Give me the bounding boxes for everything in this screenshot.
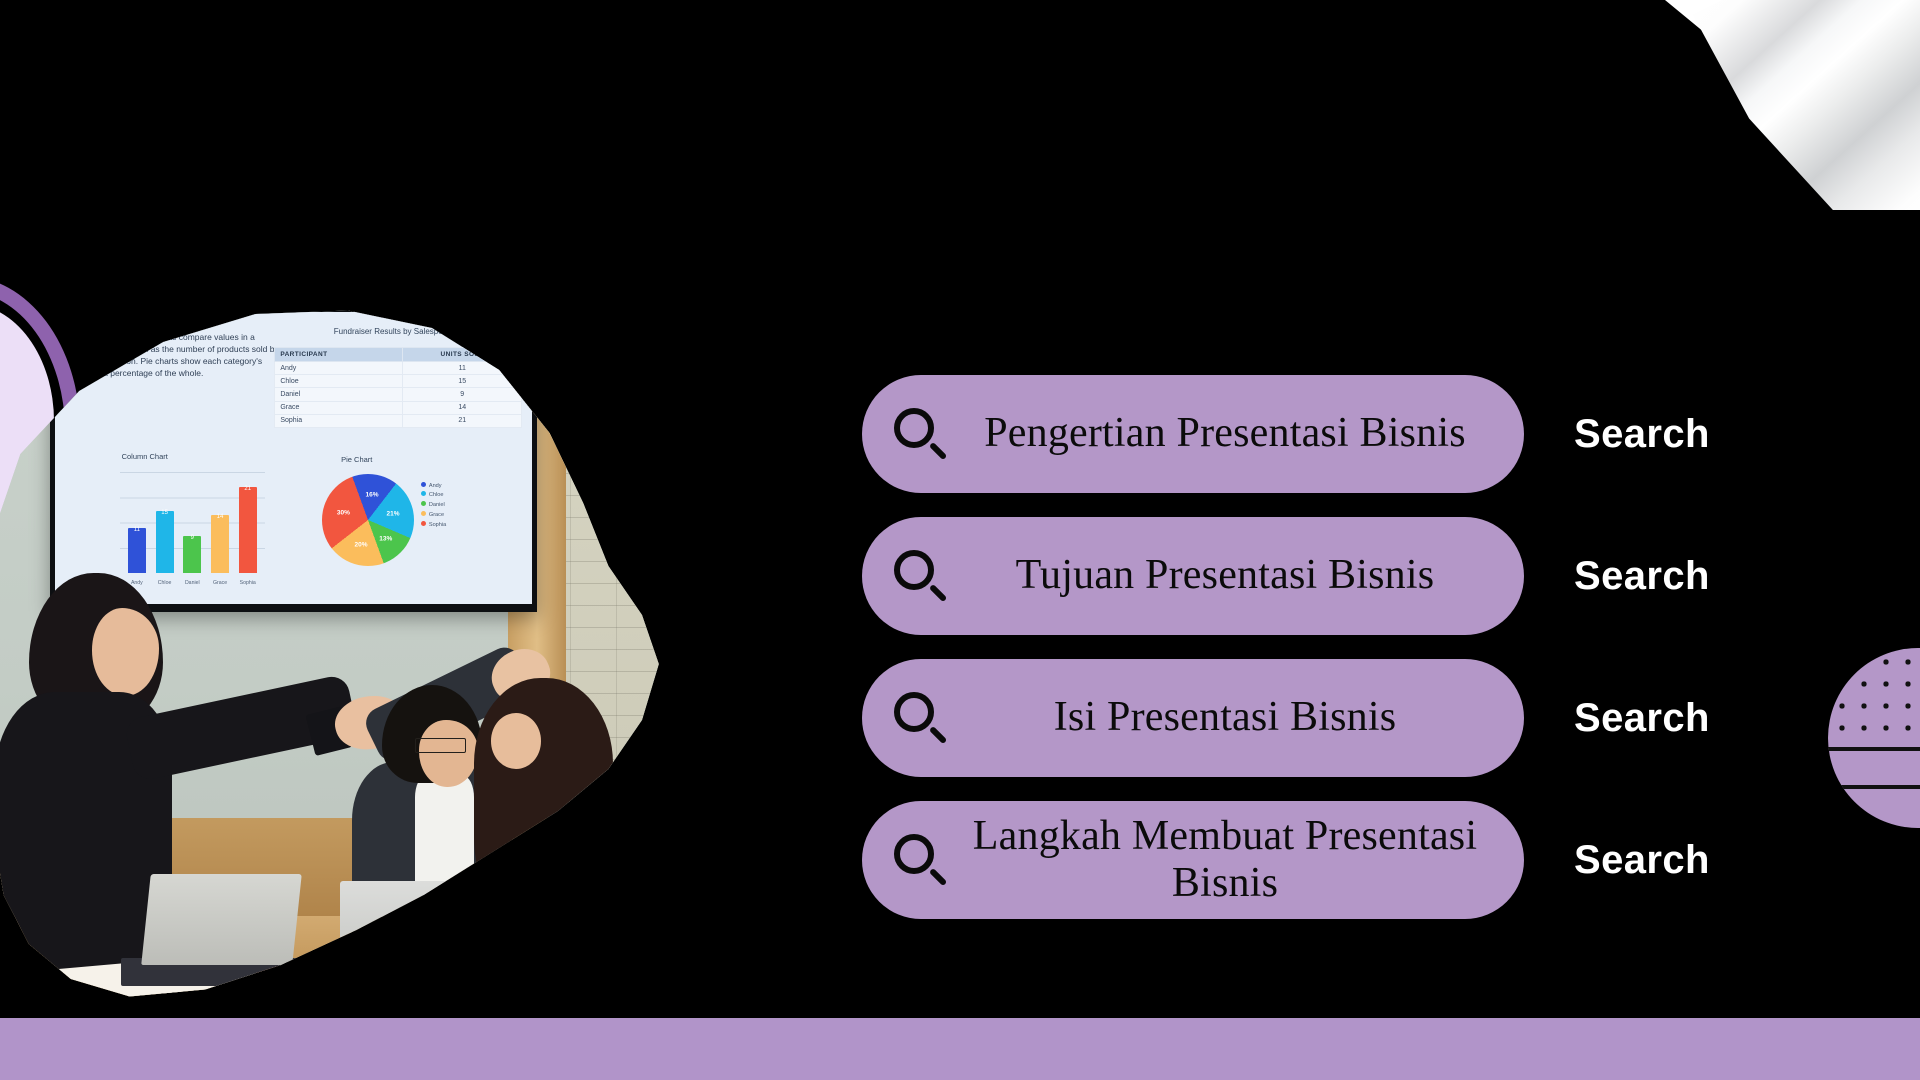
table-header-row: PARTICIPANT UNITS SOLD: [275, 347, 522, 361]
chart-bar: 11Andy: [128, 528, 146, 573]
presentation-screen: Column, bar, and pie charts compare valu…: [50, 307, 537, 612]
search-icon[interactable]: [892, 548, 948, 604]
search-button-4[interactable]: Search: [1564, 832, 1720, 889]
column-chart: 11Andy15Chloe9Daniel14Grace21Sophia: [107, 472, 264, 589]
screen-slide: Column, bar, and pie charts compare valu…: [55, 312, 532, 604]
table-row: Sophia 21: [275, 414, 522, 427]
search-pill-2[interactable]: Tujuan Presentasi Bisnis: [862, 517, 1524, 635]
search-row: Pengertian Presentasi BisnisSearch: [862, 375, 1872, 493]
cell-units: 21: [403, 414, 522, 427]
cell-units: 11: [403, 361, 522, 374]
photo-inner: Column, bar, and pie charts compare valu…: [0, 300, 810, 1000]
search-row: Isi Presentasi BisnisSearch: [862, 659, 1872, 777]
search-button-2[interactable]: Search: [1564, 548, 1720, 605]
search-pill-4[interactable]: Langkah Membuat Presentasi Bisnis: [862, 801, 1524, 919]
pie-chart: 16%21%13%20%30% AndyChloeDanielGraceSoph…: [317, 469, 441, 591]
bar-category: Daniel: [178, 580, 207, 586]
cell-units: 14: [403, 401, 522, 414]
bar-value: 21: [239, 486, 257, 492]
table-row: Andy 11: [275, 361, 522, 374]
bar-category: Sophia: [233, 580, 262, 586]
cell-name: Chloe: [275, 375, 403, 388]
search-pill-label: Isi Presentasi Bisnis: [970, 694, 1498, 741]
pie-chart-title: Pie Chart: [341, 455, 372, 464]
pie-slice-label: 13%: [379, 535, 392, 542]
pie-legend-item: Sophia: [421, 521, 446, 531]
search-rows-list: Pengertian Presentasi BisnisSearchTujuan…: [862, 375, 1872, 943]
table-header-units: UNITS SOLD: [403, 347, 522, 361]
search-pill-label: Tujuan Presentasi Bisnis: [970, 552, 1498, 599]
bar-category: Grace: [206, 580, 235, 586]
search-button-1[interactable]: Search: [1564, 406, 1720, 463]
table-header-participant: PARTICIPANT: [275, 347, 403, 361]
pie-legend: AndyChloeDanielGraceSophia: [421, 482, 446, 531]
table-row: Grace 14: [275, 401, 522, 414]
search-row: Tujuan Presentasi BisnisSearch: [862, 517, 1872, 635]
cell-name: Grace: [275, 401, 403, 414]
chart-bar: 21Sophia: [239, 487, 257, 573]
bar-value: 11: [128, 527, 146, 533]
bottom-accent-bar: [0, 1018, 1920, 1080]
pie-slice-label: 30%: [337, 510, 350, 517]
search-icon[interactable]: [892, 690, 948, 746]
tablet-device: [272, 979, 390, 1000]
colleague-one-glasses: [415, 738, 465, 753]
chart-bars: 11Andy15Chloe9Daniel14Grace21Sophia: [123, 475, 262, 573]
slide-table-title: Fundraiser Results by Salesperson: [277, 327, 516, 336]
bar-value: 15: [156, 510, 174, 516]
pie-slice-label: 16%: [366, 491, 379, 498]
pie-legend-item: Chloe: [421, 491, 446, 501]
chart-bar: 15Chloe: [156, 511, 174, 572]
search-icon[interactable]: [892, 832, 948, 888]
cell-name: Sophia: [275, 414, 403, 427]
search-button-3[interactable]: Search: [1564, 690, 1720, 747]
page-curl-sheet: [1665, 0, 1920, 210]
business-presentation-photo: Column, bar, and pie charts compare valu…: [0, 300, 810, 1000]
desk-sticky-note: [281, 972, 313, 989]
cell-units: 9: [403, 388, 522, 401]
search-row: Langkah Membuat Presentasi BisnisSearch: [862, 801, 1872, 919]
colleague-two-face: [491, 713, 541, 769]
bar-value: 9: [183, 535, 201, 541]
page-curl-fold: [1665, 0, 1920, 210]
cell-name: Daniel: [275, 388, 403, 401]
colleague-two-hair: [474, 678, 613, 930]
search-pill-1[interactable]: Pengertian Presentasi Bisnis: [862, 375, 1524, 493]
presenter-face: [92, 608, 159, 696]
colleague-one-shirt: [415, 776, 474, 895]
pie-slice-label: 20%: [355, 541, 368, 548]
cell-name: Andy: [275, 361, 403, 374]
search-icon[interactable]: [892, 406, 948, 462]
pie-slice-label: 21%: [386, 510, 399, 517]
search-pill-label: Langkah Membuat Presentasi Bisnis: [970, 813, 1498, 908]
table-row: Chloe 15: [275, 375, 522, 388]
bar-category: Chloe: [150, 580, 179, 586]
colleague-two-body: [466, 881, 617, 1000]
chart-bar: 14Grace: [211, 515, 229, 572]
pie-circle: 16%21%13%20%30%: [322, 474, 414, 566]
column-chart-title: Column Chart: [122, 452, 168, 461]
pie-legend-item: Grace: [421, 511, 446, 521]
laptop-one: [142, 874, 303, 965]
pie-legend-item: Andy: [421, 482, 446, 492]
bar-value: 14: [211, 514, 229, 520]
chart-bar: 9Daniel: [183, 536, 201, 573]
cell-units: 15: [403, 375, 522, 388]
laptop-two: [340, 881, 516, 979]
search-pill-3[interactable]: Isi Presentasi Bisnis: [862, 659, 1524, 777]
table-row: Daniel 9: [275, 388, 522, 401]
slide-canvas: Column, bar, and pie charts compare valu…: [0, 0, 1920, 1080]
slide-results-table: PARTICIPANT UNITS SOLD Andy 11 Chloe: [274, 347, 522, 428]
pie-legend-item: Daniel: [421, 501, 446, 511]
search-pill-label: Pengertian Presentasi Bisnis: [970, 410, 1498, 457]
